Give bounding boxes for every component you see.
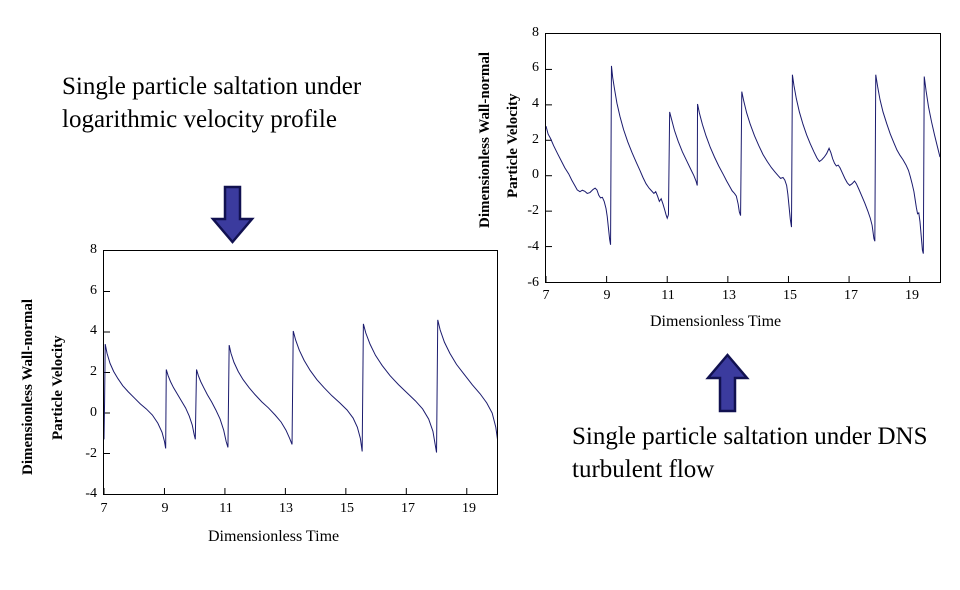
log-xtick-11: 11 [213,502,239,516]
log-xtick-19: 19 [456,502,482,516]
dns-xtick-15: 15 [777,289,803,303]
dns-xtick-11: 11 [655,289,681,303]
dns-chart-ylabel-line1: Dimensionless Wall-normal [477,52,494,228]
dns-xtick-17: 17 [838,289,864,303]
log-xtick-17: 17 [395,502,421,516]
dns-ytick-4: 4 [513,97,539,111]
log-ytick-6: 6 [71,284,97,298]
log-ytick-2: 2 [71,365,97,379]
dns-ytick-8: 8 [513,26,539,40]
dns-ytick-2: 2 [513,133,539,147]
caption-logarithmic-profile: Single particle saltation under logarith… [62,70,462,137]
log-chart-plot-area [103,250,498,495]
log-chart-xlabel: Dimensionless Time [208,528,339,546]
dns-chart-series-path [546,34,940,282]
log-chart-ylabel-line2: Particle Velocity [50,335,67,440]
log-xtick-15: 15 [334,502,360,516]
log-ytick-4: 4 [71,324,97,338]
dns-ytick-m2: -2 [513,204,539,218]
log-xtick-13: 13 [273,502,299,516]
caption-dns-turbulent-flow: Single particle saltation under DNS turb… [572,420,952,487]
dns-xtick-7: 7 [533,289,559,303]
log-ytick-8: 8 [71,243,97,257]
dns-ytick-6: 6 [513,61,539,75]
log-chart-ylabel-line1: Dimensionless Wall-normal [20,299,37,475]
dns-xtick-19: 19 [899,289,925,303]
dns-chart-xlabel: Dimensionless Time [650,313,781,331]
log-profile-chart: Dimensionless Wall-normal Particle Veloc… [8,240,528,570]
slide-canvas: Dimensionless Wall-normal Particle Veloc… [0,0,960,590]
log-ytick-m4: -4 [71,487,97,501]
dns-chart-plot-area [545,33,941,283]
dns-chart: Dimensionless Wall-normal Particle Veloc… [465,8,955,348]
log-xtick-9: 9 [152,502,178,516]
dns-xtick-9: 9 [594,289,620,303]
arrow-up-icon [700,352,755,414]
log-ytick-m2: -2 [71,447,97,461]
arrow-down-icon [205,185,260,245]
log-ytick-0: 0 [71,406,97,420]
dns-xtick-13: 13 [716,289,742,303]
log-chart-series-path [104,251,497,494]
log-xtick-7: 7 [91,502,117,516]
dns-ytick-0: 0 [513,168,539,182]
